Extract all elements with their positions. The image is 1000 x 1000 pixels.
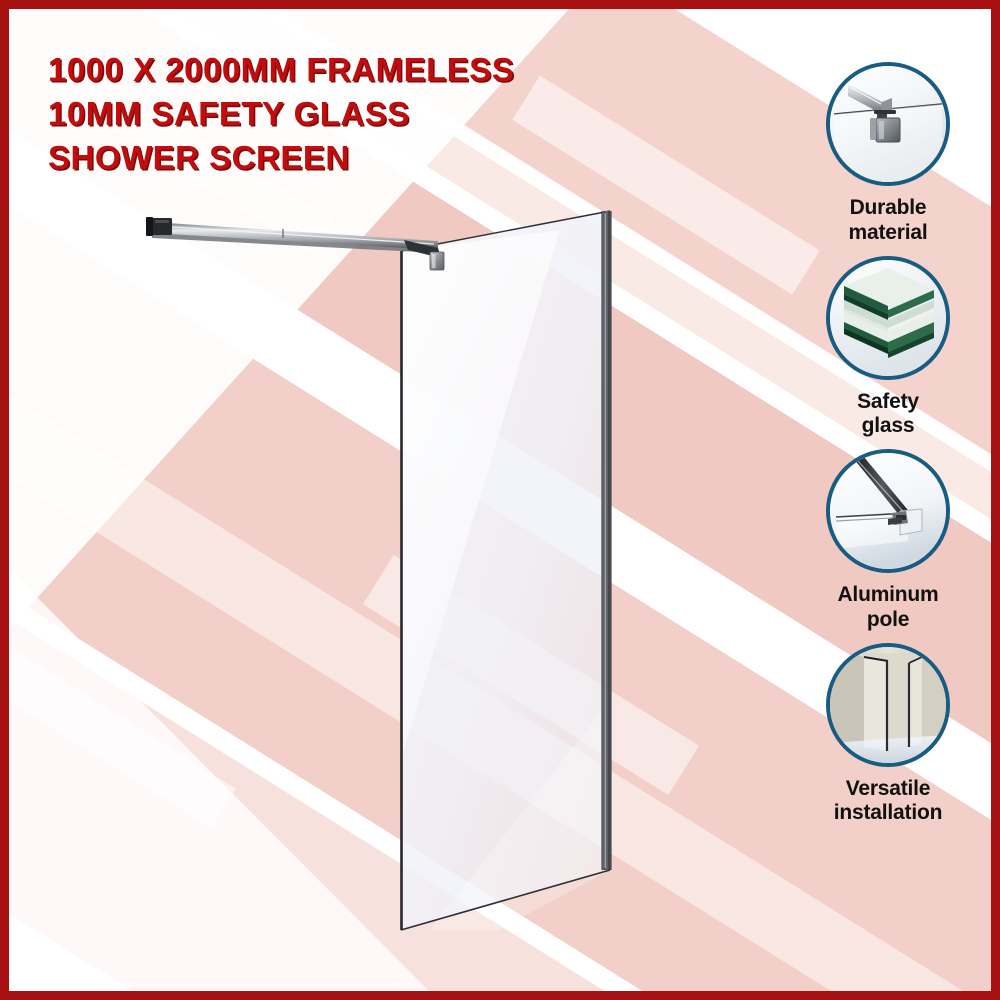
feature-label-line2: pole — [837, 608, 938, 633]
glass-thickness-edge — [602, 211, 611, 870]
title-line-1: 1000 X 2000MM FRAMELESS — [48, 48, 668, 92]
feature-label-versatile-installation: Versatile installation — [834, 777, 942, 827]
wall-mount-highlight — [155, 220, 169, 223]
feature-label-line2: material — [849, 221, 928, 246]
feature-label-line2: glass — [857, 414, 919, 439]
laminated-glass-layers-icon — [826, 256, 950, 380]
feature-label-line1: Versatile — [846, 777, 931, 800]
title-line-3: SHOWER SCREEN — [48, 136, 668, 180]
feature-label-line1: Aluminum — [837, 583, 938, 606]
feature-badge-list: Durable material — [790, 62, 986, 836]
feature-label-line1: Durable — [850, 196, 927, 219]
glass-thickness-edge-highlight — [605, 213, 606, 868]
product-title: 1000 X 2000MM FRAMELESS 10MM SAFETY GLAS… — [48, 48, 668, 180]
feature-versatile-installation[interactable]: Versatile installation — [790, 643, 986, 827]
wall-mount-plate — [146, 217, 153, 236]
feature-durable-material[interactable]: Durable material — [790, 62, 986, 246]
feature-label-aluminum-pole: Aluminum pole — [837, 583, 938, 633]
feature-label-line1: Safety — [857, 390, 919, 413]
feature-label-line2: installation — [834, 801, 942, 826]
shower-enclosure-icon — [826, 643, 950, 767]
product-banner: 1000 X 2000MM FRAMELESS 10MM SAFETY GLAS… — [0, 0, 1000, 1000]
bracket-clamp-icon — [826, 62, 950, 186]
feature-aluminum-pole[interactable]: Aluminum pole — [790, 449, 986, 633]
feature-label-durable-material: Durable material — [849, 196, 928, 246]
feature-safety-glass[interactable]: Safety glass — [790, 256, 986, 440]
feature-label-safety-glass: Safety glass — [857, 390, 919, 440]
aluminum-support-pole-icon — [826, 449, 950, 573]
glass-clamp-highlight — [432, 254, 436, 268]
title-line-2: 10MM SAFETY GLASS — [48, 92, 668, 136]
